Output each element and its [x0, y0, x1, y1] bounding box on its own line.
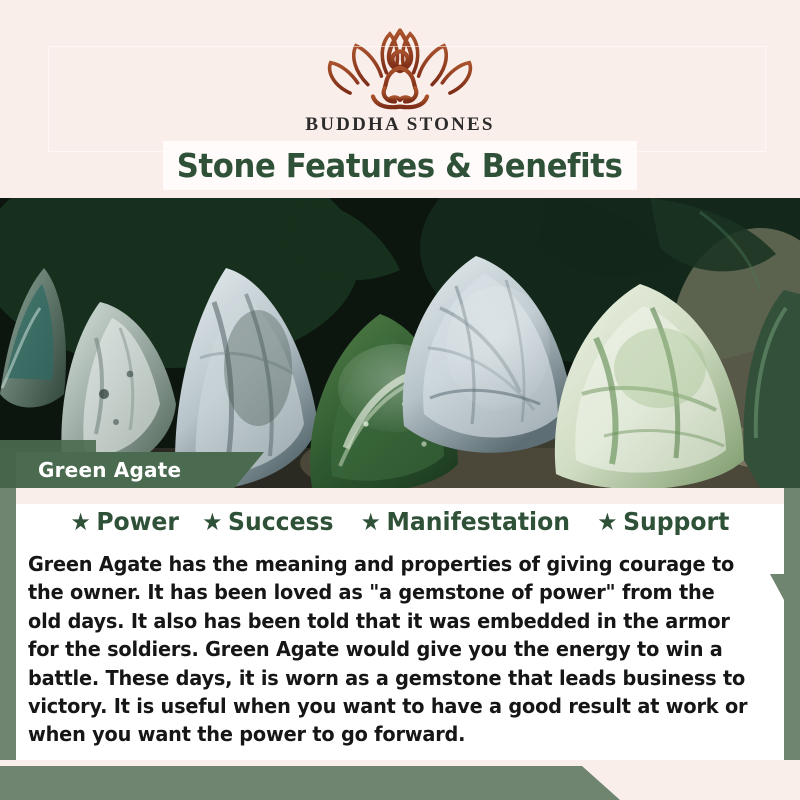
stone-description: Green Agate has the meaning and properti…: [28, 550, 754, 749]
title-panel: Stone Features & Benefits: [163, 141, 637, 190]
star-icon: ★: [70, 510, 90, 534]
content-panel: ★ Power ★ Success ★ Manifestation ★ Supp…: [16, 488, 784, 760]
feature-list: ★ Power ★ Success ★ Manifestation ★ Supp…: [16, 507, 784, 536]
star-icon: ★: [597, 510, 617, 534]
stone-name-banner: Green Agate: [16, 452, 264, 488]
star-icon: ★: [361, 510, 381, 534]
feature-label: Success: [228, 507, 333, 536]
feature-item: ★ Support: [597, 507, 729, 536]
infographic-card: BUDDHA STONES Stone Features & Benefits: [0, 0, 800, 800]
frame-bottom-accent: [0, 766, 620, 800]
feature-item: ★ Manifestation: [361, 507, 570, 536]
feature-label: Support: [623, 507, 729, 536]
feature-item: ★ Power: [70, 507, 178, 536]
star-icon: ★: [202, 510, 222, 534]
page-title: Stone Features & Benefits: [177, 146, 623, 185]
brand-logo: BUDDHA STONES: [0, 22, 800, 136]
feature-item: ★ Success: [202, 507, 333, 536]
stone-photo: [0, 198, 800, 488]
stone-name: Green Agate: [38, 458, 181, 482]
feature-label: Power: [96, 507, 179, 536]
feature-label: Manifestation: [386, 507, 569, 536]
header: BUDDHA STONES Stone Features & Benefits: [0, 0, 800, 198]
right-corner-accent: [770, 574, 784, 600]
brand-name: BUDDHA STONES: [305, 114, 494, 136]
content-top-strip: [16, 488, 784, 504]
lotus-meditation-icon: [315, 22, 485, 110]
